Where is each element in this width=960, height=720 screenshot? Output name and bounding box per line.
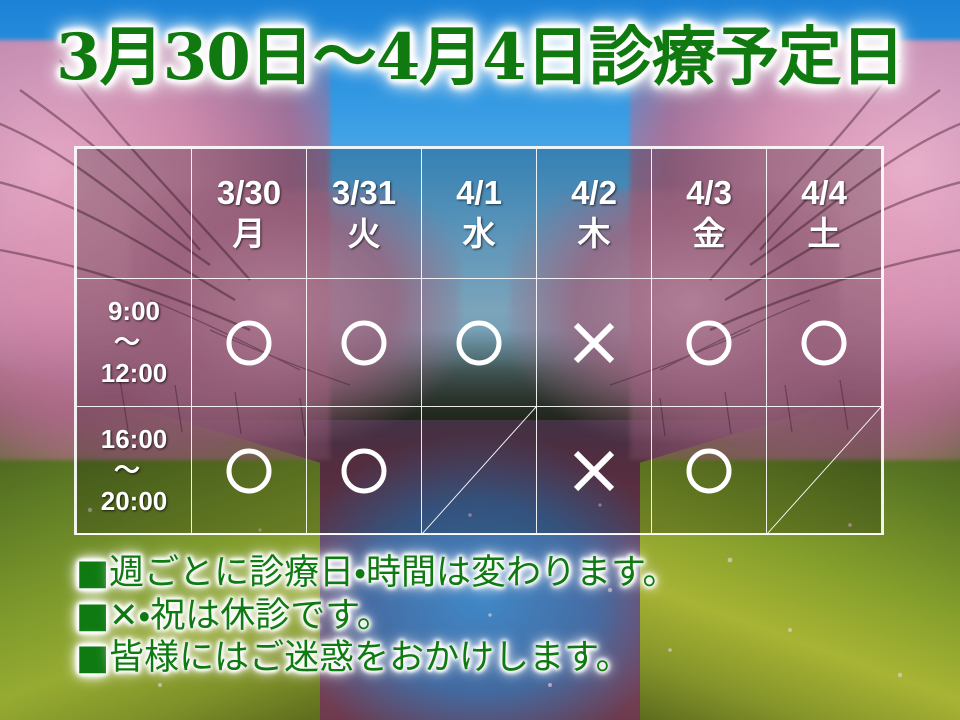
note-bullet-1: ■ (76, 596, 109, 636)
header-dow-0: 月 (192, 214, 306, 254)
notes-list: ■週ごとに診療日・時間は変わります。 ■✕・祝は休診です。 ■皆様にはご迷惑をお… (76, 552, 940, 680)
diagonal-strike-icon (422, 407, 536, 534)
open-circle-icon (223, 317, 275, 369)
note-text-0: 週ごとに診療日・時間は変わります。 (109, 553, 677, 593)
page-title: 3月30日～4月4日診療予定日 (0, 24, 960, 91)
header-col-3: 4/2 木 (537, 149, 652, 279)
note-bullet-0: ■ (76, 553, 109, 593)
row-label-evening-end: 20:00 (77, 486, 191, 517)
clinic-schedule-poster: 3月30日～4月4日診療予定日 3/30 月 3/31 火 (0, 0, 960, 720)
cell-evening-3 (537, 407, 652, 535)
open-circle-icon (683, 317, 735, 369)
header-col-4: 4/3 金 (652, 149, 767, 279)
header-date-4: 4/3 (652, 173, 766, 213)
header-dow-1: 火 (307, 214, 421, 254)
note-text-1: ✕・祝は休診です。 (109, 596, 392, 636)
closed-cross-icon (568, 445, 620, 497)
row-label-evening: 16:00 ～ 20:00 (77, 407, 192, 535)
table-row: 9:00 ～ 12:00 (77, 279, 882, 407)
cell-morning-5 (767, 279, 882, 407)
header-dow-3: 木 (537, 214, 651, 254)
diagonal-strike-icon (767, 407, 881, 534)
open-circle-icon (683, 445, 735, 497)
cell-evening-1 (307, 407, 422, 535)
cell-morning-3 (537, 279, 652, 407)
schedule-table-container: 3/30 月 3/31 火 4/1 水 4/2 木 (74, 146, 884, 535)
row-label-evening-start: 16:00 (77, 424, 191, 455)
header-date-0: 3/30 (192, 173, 306, 213)
open-circle-icon (798, 317, 850, 369)
note-bullet-2: ■ (76, 638, 109, 678)
cell-morning-2 (422, 279, 537, 407)
row-label-morning: 9:00 ～ 12:00 (77, 279, 192, 407)
cell-evening-0 (192, 407, 307, 535)
note-text-2: 皆様にはご迷惑をおかけします。 (109, 638, 631, 678)
table-row: 16:00 ～ 20:00 (77, 407, 882, 535)
header-dow-5: 土 (767, 214, 881, 254)
note-line-0: ■週ごとに診療日・時間は変わります。 (76, 552, 940, 595)
header-col-5: 4/4 土 (767, 149, 882, 279)
open-circle-icon (338, 445, 390, 497)
row-label-morning-end: 12:00 (77, 358, 191, 389)
header-date-5: 4/4 (767, 173, 881, 213)
note-line-1: ■✕・祝は休診です。 (76, 595, 940, 638)
header-date-2: 4/1 (422, 173, 536, 213)
header-col-0: 3/30 月 (192, 149, 307, 279)
cell-morning-0 (192, 279, 307, 407)
closed-cross-icon (568, 317, 620, 369)
cell-evening-2 (422, 407, 537, 535)
open-circle-icon (453, 317, 505, 369)
row-label-evening-tilde: ～ (77, 455, 191, 486)
cell-morning-1 (307, 279, 422, 407)
header-col-2: 4/1 水 (422, 149, 537, 279)
header-date-1: 3/31 (307, 173, 421, 213)
header-dow-4: 金 (652, 214, 766, 254)
open-circle-icon (338, 317, 390, 369)
row-label-morning-start: 9:00 (77, 296, 191, 327)
cell-evening-5 (767, 407, 882, 535)
open-circle-icon (223, 445, 275, 497)
cell-morning-4 (652, 279, 767, 407)
schedule-table: 3/30 月 3/31 火 4/1 水 4/2 木 (76, 148, 882, 535)
header-dow-2: 水 (422, 214, 536, 254)
header-date-3: 4/2 (537, 173, 651, 213)
cell-evening-4 (652, 407, 767, 535)
header-corner-cell (77, 149, 192, 279)
table-header-row: 3/30 月 3/31 火 4/1 水 4/2 木 (77, 149, 882, 279)
note-line-2: ■皆様にはご迷惑をおかけします。 (76, 637, 940, 680)
header-col-1: 3/31 火 (307, 149, 422, 279)
row-label-morning-tilde: ～ (77, 327, 191, 358)
